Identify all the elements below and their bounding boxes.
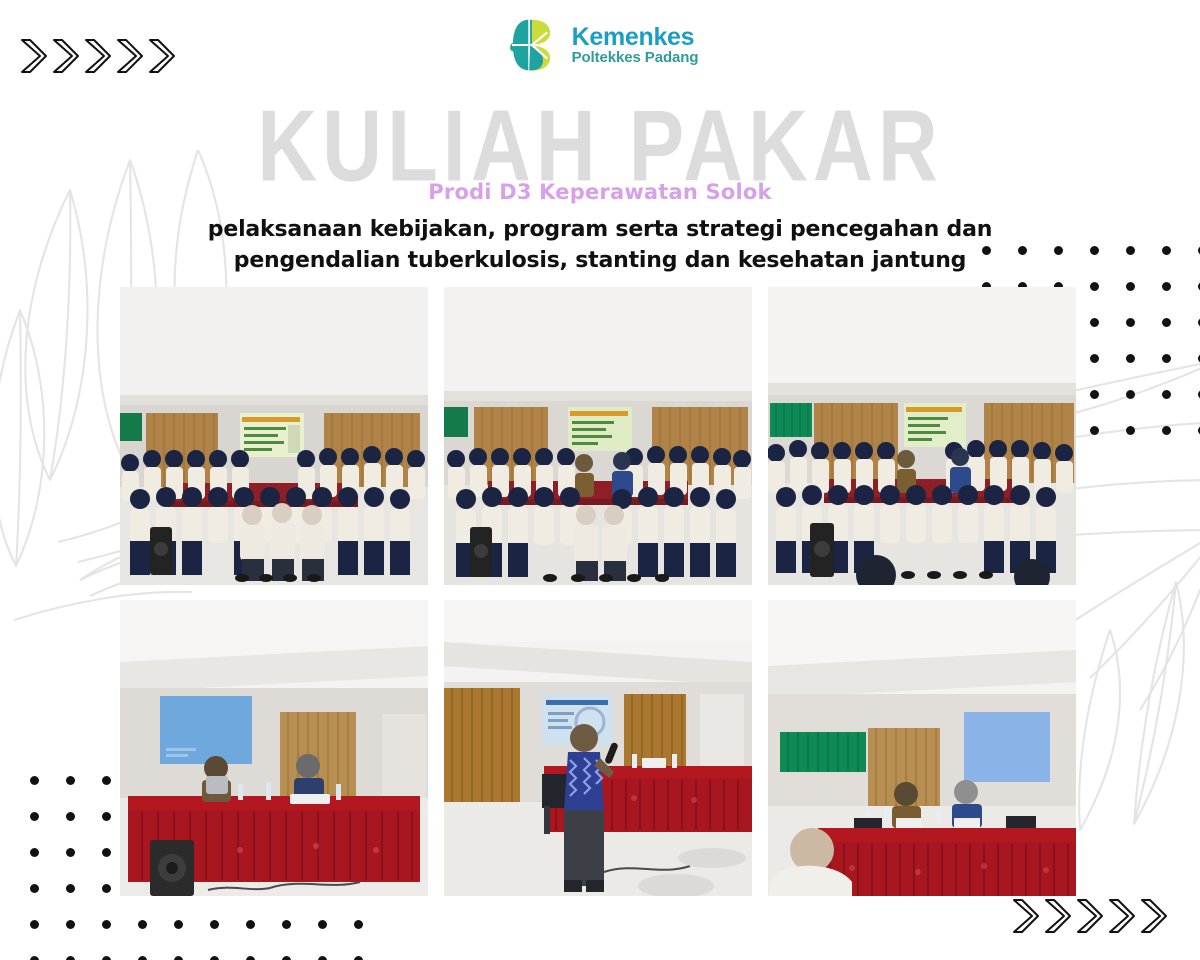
dot-icon — [1126, 354, 1135, 363]
standing-speaker-illustration — [444, 600, 752, 896]
brand-lockup: Kemenkes Poltekkes Padang — [0, 16, 1200, 74]
gallery-photo[interactable] — [444, 600, 752, 896]
brand-subtitle: Poltekkes Padang — [572, 50, 699, 65]
dot-icon — [66, 848, 75, 857]
dot-icon — [282, 920, 291, 929]
dot-icon — [354, 956, 363, 960]
dot-icon — [318, 956, 327, 960]
panel-table-audience-illustration — [768, 600, 1076, 896]
dot-icon — [1162, 282, 1171, 291]
dot-icon — [102, 956, 111, 960]
chevron-right-icon — [1042, 896, 1072, 936]
dot-icon — [1090, 390, 1099, 399]
gallery-photo[interactable] — [768, 600, 1076, 896]
dot-icon — [66, 956, 75, 960]
dot-icon — [210, 956, 219, 960]
dot-icon — [102, 776, 111, 785]
dot-icon — [30, 956, 39, 960]
dot-icon — [282, 956, 291, 960]
dot-icon — [1090, 318, 1099, 327]
dot-icon — [1126, 282, 1135, 291]
dot-icon — [66, 884, 75, 893]
dot-icon — [1126, 318, 1135, 327]
dot-icon — [66, 776, 75, 785]
dot-icon — [210, 920, 219, 929]
page-subtitle: Prodi D3 Keperawatan Solok — [0, 180, 1200, 204]
dot-icon — [66, 920, 75, 929]
description-line-2: pengendalian tuberkulosis, stanting dan … — [0, 245, 1200, 276]
kemenkes-petal-logo-icon — [502, 16, 560, 74]
dot-icon — [174, 956, 183, 960]
dot-icon — [246, 956, 255, 960]
dot-icon — [30, 776, 39, 785]
brand-text: Kemenkes Poltekkes Padang — [572, 25, 699, 66]
dot-icon — [30, 920, 39, 929]
group-photo-illustration — [120, 287, 428, 585]
dot-icon — [102, 920, 111, 929]
chevron-right-icon — [1106, 896, 1136, 936]
gallery-photo[interactable] — [444, 287, 752, 585]
chevron-right-icon — [1010, 896, 1040, 936]
dot-icon — [1162, 318, 1171, 327]
dot-icon — [102, 884, 111, 893]
dot-icon — [246, 920, 255, 929]
dot-icon — [66, 812, 75, 821]
dot-icon — [354, 920, 363, 929]
dot-icon — [102, 812, 111, 821]
dot-icon — [30, 812, 39, 821]
gallery-photo[interactable] — [768, 287, 1076, 585]
brand-title: Kemenkes — [572, 25, 699, 51]
panel-table-illustration — [120, 600, 428, 896]
dot-icon — [1162, 426, 1171, 435]
chevron-right-icon — [1138, 896, 1168, 936]
dot-icon — [1126, 390, 1135, 399]
description-line-1: pelaksanaan kebijakan, program serta str… — [0, 214, 1200, 245]
chevron-right-icon — [1074, 896, 1104, 936]
dot-icon — [1090, 282, 1099, 291]
dot-icon — [138, 956, 147, 960]
group-photo-illustration — [768, 287, 1076, 585]
dot-icon — [138, 920, 147, 929]
gallery-photo[interactable] — [120, 287, 428, 585]
dot-icon — [1162, 354, 1171, 363]
photo-gallery — [120, 287, 1080, 895]
dot-icon — [318, 920, 327, 929]
dot-icon — [174, 920, 183, 929]
dot-icon — [1126, 426, 1135, 435]
dot-icon — [102, 848, 111, 857]
dot-icon — [1090, 354, 1099, 363]
poster-canvas: Kemenkes Poltekkes Padang KULIAH PAKAR P… — [0, 0, 1200, 960]
group-photo-illustration — [444, 287, 752, 585]
page-description: pelaksanaan kebijakan, program serta str… — [0, 214, 1200, 276]
dot-icon — [1162, 390, 1171, 399]
dot-icon — [1090, 426, 1099, 435]
dot-icon — [30, 848, 39, 857]
chevron-decoration-bottom-right — [1010, 896, 1168, 936]
dot-icon — [30, 884, 39, 893]
gallery-photo[interactable] — [120, 600, 428, 896]
